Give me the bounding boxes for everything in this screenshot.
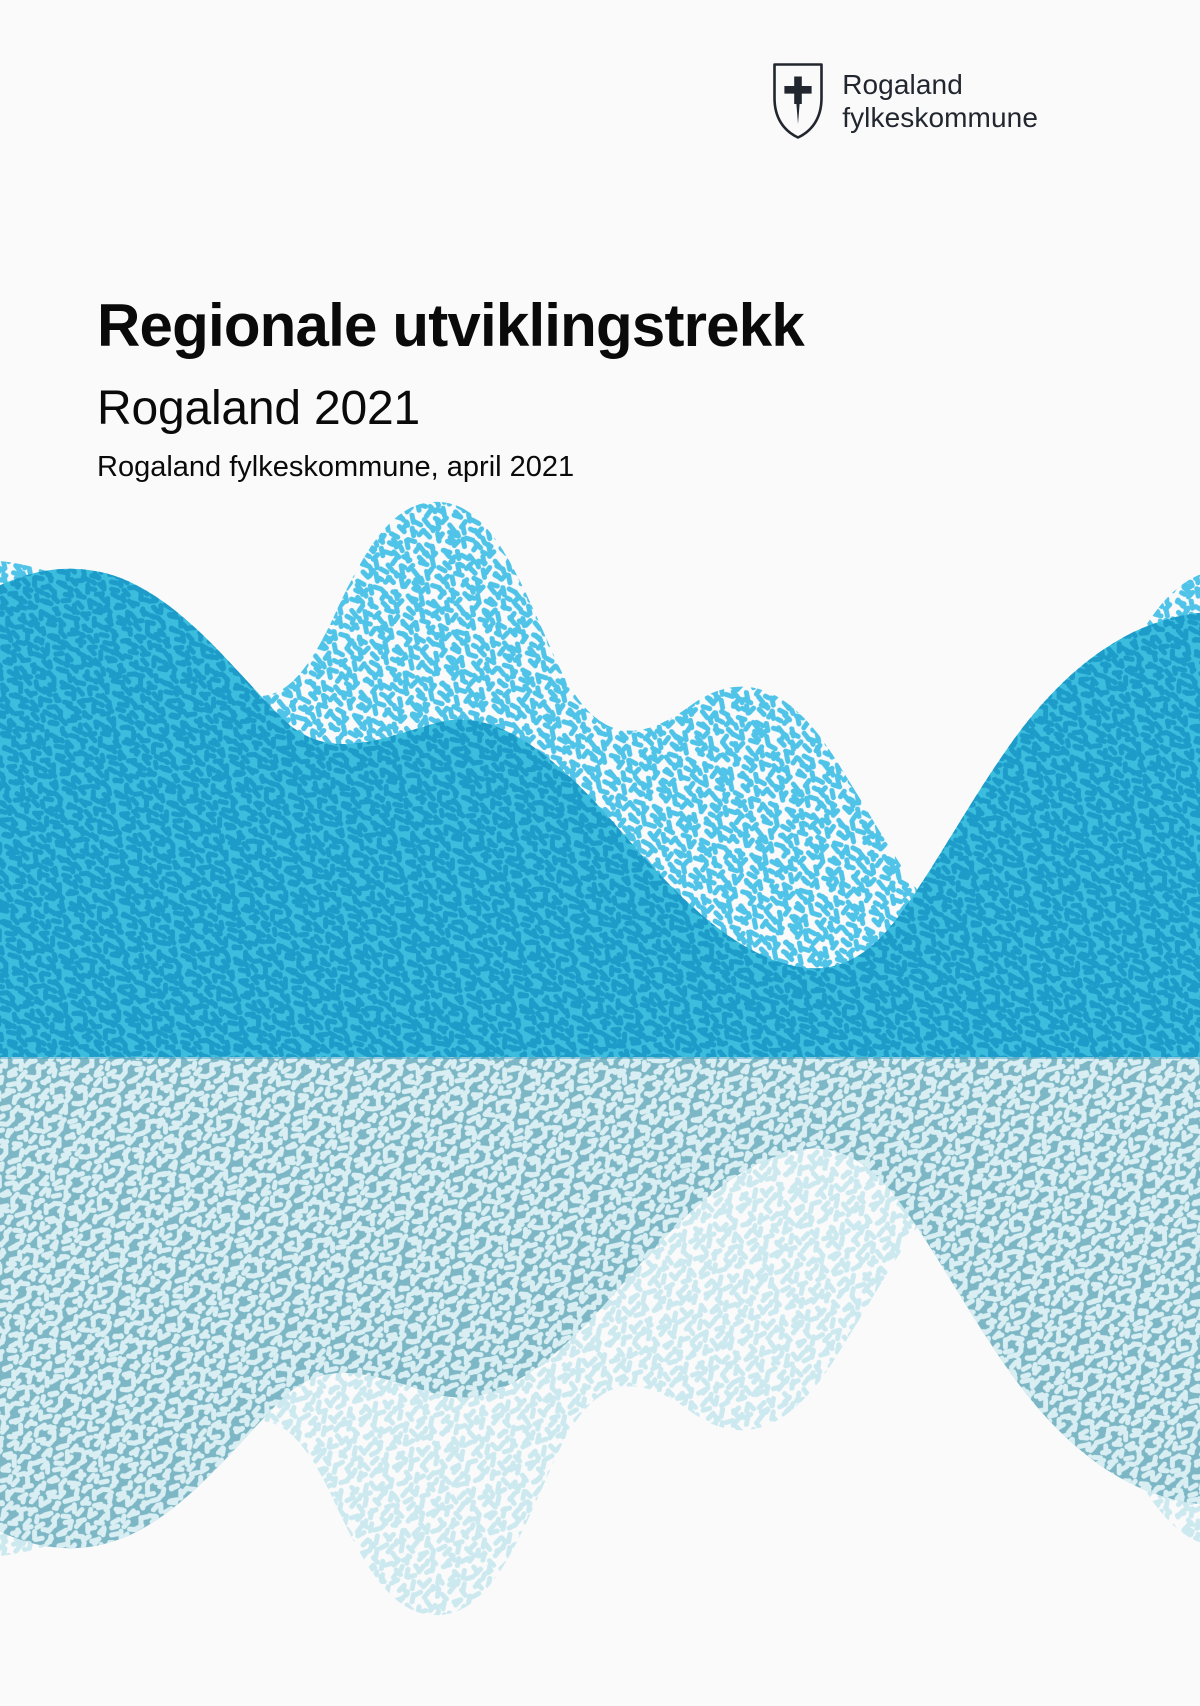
page-byline: Rogaland fylkeskommune, april 2021 xyxy=(97,450,804,485)
document-cover-page: Rogaland fylkeskommune Regionale utvikli… xyxy=(0,0,1200,1706)
page-title: Regionale utviklingstrekk xyxy=(97,292,804,359)
title-block: Regionale utviklingstrekk Rogaland 2021 … xyxy=(97,292,804,485)
wave-lower-half-reflection xyxy=(0,1047,1200,1627)
wave-upper-half xyxy=(0,490,1200,1070)
wave-illustration xyxy=(0,0,1200,1706)
page-subtitle: Rogaland 2021 xyxy=(97,381,804,436)
